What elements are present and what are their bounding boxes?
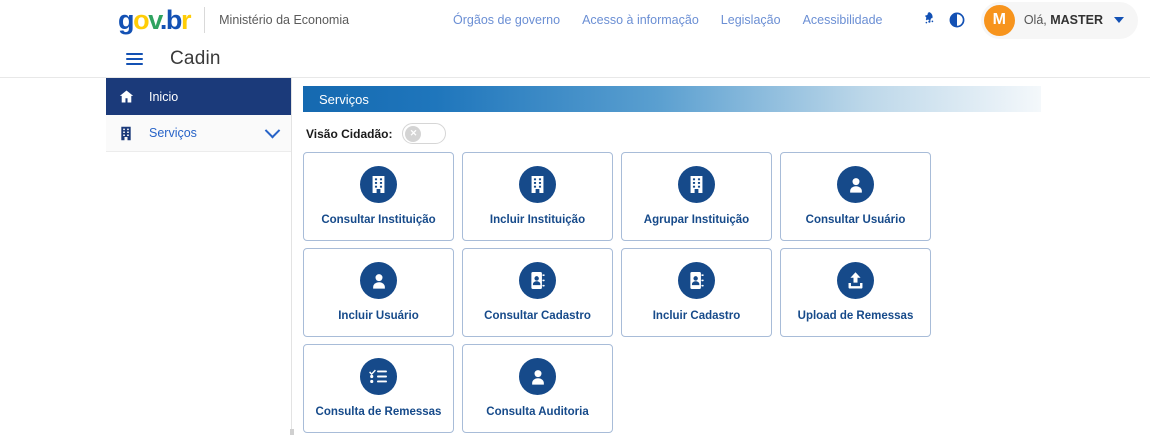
- card-consulta-de-remessas[interactable]: Consulta de Remessas: [303, 344, 454, 433]
- user-name: MASTER: [1050, 13, 1103, 27]
- card-incluir-cadastro[interactable]: Incluir Cadastro: [621, 248, 772, 337]
- sidebar-item-label: Serviços: [143, 126, 267, 140]
- user-icon: [360, 262, 397, 299]
- sidebar: Inicio Serviços: [106, 78, 291, 435]
- logo-divider: [204, 7, 205, 33]
- page-title: Cadin: [170, 48, 221, 70]
- building-icon: [678, 166, 715, 203]
- gov-top-nav: Órgãos de governo Acesso à informação Le…: [453, 13, 882, 27]
- hamburger-icon[interactable]: [126, 53, 148, 65]
- services-grid: Consultar Instituição Incluir Instituiçã…: [303, 152, 943, 433]
- logo-letter-v: v: [148, 5, 160, 35]
- main-content: Serviços Visão Cidadão: ✕ Consultar Inst…: [292, 78, 1150, 435]
- card-consultar-usuario[interactable]: Consultar Usuário: [780, 152, 931, 241]
- sidebar-item-servicos[interactable]: Serviços: [106, 115, 291, 152]
- gov-top-bar: gov.br Ministério da Economia Órgãos de …: [0, 0, 1150, 40]
- building-icon: [519, 166, 556, 203]
- citizen-view-row: Visão Cidadão: ✕: [306, 123, 1150, 144]
- greeting-prefix: Olá,: [1024, 13, 1050, 27]
- logo-letter-g: g: [118, 5, 133, 35]
- building-icon: [119, 126, 143, 141]
- avatar: M: [984, 5, 1015, 36]
- card-upload-de-remessas[interactable]: Upload de Remessas: [780, 248, 931, 337]
- user-menu[interactable]: M Olá, MASTER: [981, 2, 1138, 39]
- checklist-icon: [360, 358, 397, 395]
- citizen-view-label: Visão Cidadão:: [306, 127, 392, 141]
- card-incluir-instituicao[interactable]: Incluir Instituição: [462, 152, 613, 241]
- card-label: Incluir Cadastro: [649, 310, 745, 323]
- section-banner-title: Serviços: [319, 92, 369, 107]
- card-label: Incluir Instituição: [486, 214, 589, 227]
- sidebar-item-label: Inicio: [143, 90, 278, 104]
- card-label: Agrupar Instituição: [640, 214, 753, 227]
- sidebar-divider: [291, 78, 292, 435]
- contrast-icon[interactable]: [943, 6, 971, 34]
- nav-link-acesso-a-informacao[interactable]: Acesso à informação: [582, 13, 699, 27]
- card-consultar-cadastro[interactable]: Consultar Cadastro: [462, 248, 613, 337]
- gov-top-bar-right: M Olá, MASTER: [915, 0, 1138, 40]
- ministry-label: Ministério da Economia: [219, 13, 349, 27]
- address-book-icon: [678, 262, 715, 299]
- sidebar-item-inicio[interactable]: Inicio: [106, 78, 291, 115]
- logo-letter-r: r: [181, 5, 190, 35]
- card-label: Consultar Cadastro: [480, 310, 595, 323]
- nav-link-acessibilidade[interactable]: Acessibilidade: [803, 13, 883, 27]
- user-icon: [837, 166, 874, 203]
- card-label: Upload de Remessas: [794, 310, 918, 323]
- toggle-knob: ✕: [405, 126, 421, 142]
- nav-link-orgaos-de-governo[interactable]: Órgãos de governo: [453, 13, 560, 27]
- card-label: Incluir Usuário: [334, 310, 423, 323]
- home-icon: [119, 89, 143, 104]
- govbr-logo[interactable]: gov.br: [118, 7, 190, 34]
- card-label: Consulta de Remessas: [312, 406, 446, 419]
- card-incluir-usuario[interactable]: Incluir Usuário: [303, 248, 454, 337]
- logo-letter-o: o: [133, 5, 148, 35]
- chevron-down-icon[interactable]: [1114, 17, 1124, 23]
- card-consulta-auditoria[interactable]: Consulta Auditoria: [462, 344, 613, 433]
- building-icon: [360, 166, 397, 203]
- app-header: Cadin: [0, 40, 1150, 78]
- card-label: Consultar Instituição: [317, 214, 439, 227]
- user-greeting: Olá, MASTER: [1024, 13, 1103, 27]
- address-book-icon: [519, 262, 556, 299]
- card-label: Consultar Usuário: [802, 214, 910, 227]
- chevron-down-icon[interactable]: [265, 122, 281, 138]
- nav-link-legislacao[interactable]: Legislação: [721, 13, 781, 27]
- user-icon: [519, 358, 556, 395]
- citizen-view-toggle[interactable]: ✕: [402, 123, 446, 144]
- cookie-icon[interactable]: [915, 6, 943, 34]
- card-label: Consulta Auditoria: [482, 406, 592, 419]
- card-consultar-instituicao[interactable]: Consultar Instituição: [303, 152, 454, 241]
- logo-letter-b: b: [166, 5, 181, 35]
- page-body: Inicio Serviços Serviços Visão Cidadão: …: [0, 78, 1150, 435]
- upload-icon: [837, 262, 874, 299]
- section-banner: Serviços: [303, 86, 1041, 112]
- card-agrupar-instituicao[interactable]: Agrupar Instituição: [621, 152, 772, 241]
